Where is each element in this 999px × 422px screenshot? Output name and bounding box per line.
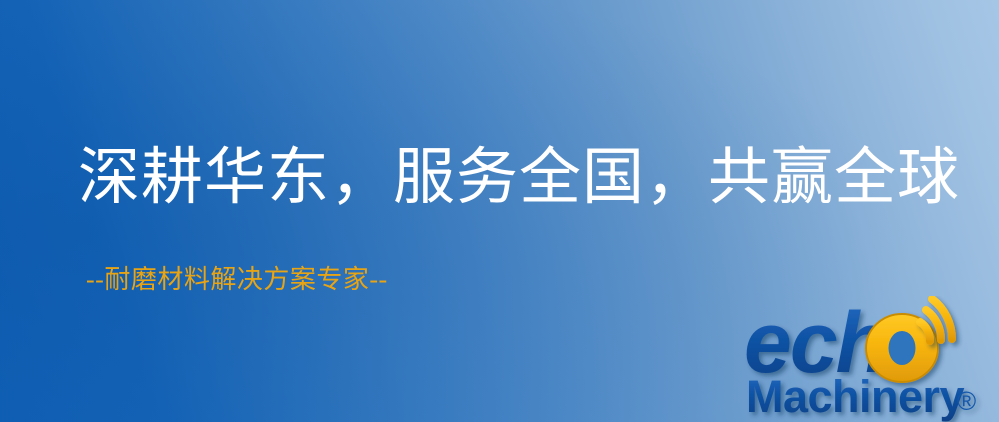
echo-machinery-logo-graphic: ech Machinery ®	[744, 296, 999, 422]
logo-tagline-group: Machinery ®	[746, 371, 976, 422]
hero-banner: 深耕华东，服务全国，共赢全球 --耐磨材料解决方案专家--	[0, 0, 999, 422]
company-logo[interactable]: ech Machinery ®	[744, 296, 999, 422]
logo-tagline-text: Machinery	[746, 371, 965, 422]
registered-trademark-icon: ®	[957, 386, 976, 416]
page-title: 深耕华东，服务全国，共赢全球	[78, 146, 960, 211]
page-subtitle: --耐磨材料解决方案专家--	[86, 266, 388, 295]
